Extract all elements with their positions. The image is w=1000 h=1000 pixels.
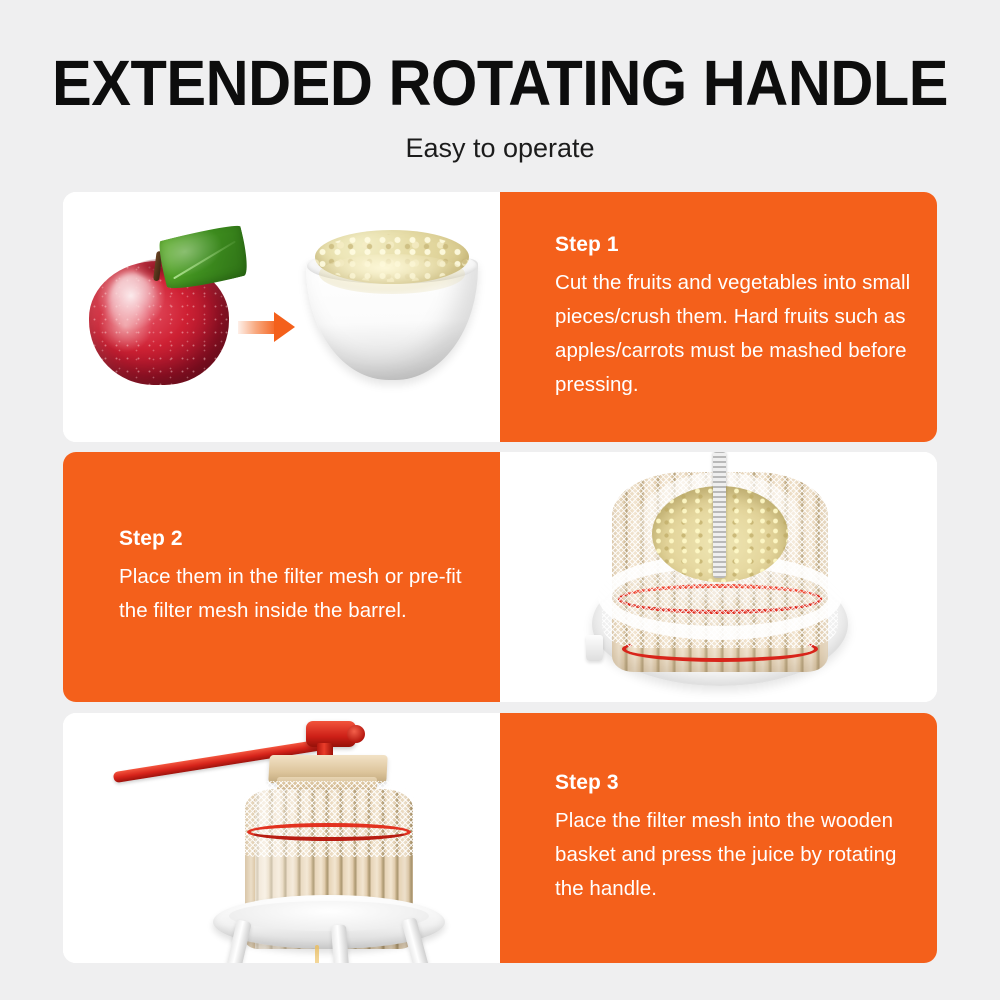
step-card-3: Step 3 Place the filter mesh into the wo… — [63, 713, 937, 963]
header: EXTENDED ROTATING HANDLE Easy to operate — [0, 0, 1000, 164]
step-card-2: Step 2 Place them in the filter mesh or … — [63, 452, 937, 702]
step-2-image — [500, 452, 937, 702]
full-fruit-press-illustration — [63, 713, 500, 963]
wooden-basket — [612, 458, 828, 672]
step-3-text-panel: Step 3 Place the filter mesh into the wo… — [500, 713, 937, 963]
step-card-1: Step 1 Cut the fruits and vegetables int… — [63, 192, 937, 442]
step-1-text-panel: Step 1 Cut the fruits and vegetables int… — [500, 192, 937, 442]
infographic-page: EXTENDED ROTATING HANDLE Easy to operate — [0, 0, 1000, 1000]
step-3-image — [63, 713, 500, 963]
step-3-text-inner: Step 3 Place the filter mesh into the wo… — [555, 770, 915, 906]
press-red-band-upper — [247, 823, 411, 841]
pulp-bowl-icon — [306, 230, 478, 390]
page-subtitle: Easy to operate — [0, 118, 1000, 164]
juice-spout-icon — [586, 635, 603, 661]
pulp-highlight — [319, 254, 465, 294]
step-1-body: Cut the fruits and vegetables into small… — [555, 266, 915, 402]
step-3-body: Place the filter mesh into the wooden ba… — [555, 804, 915, 906]
step-1-label: Step 1 — [555, 232, 915, 258]
apple-icon — [89, 247, 229, 385]
step-2-body: Place them in the filter mesh or pre-fit… — [119, 560, 478, 628]
threaded-screw-shaft — [713, 452, 726, 578]
arrow-head — [274, 312, 295, 342]
apple-leaf-icon — [156, 221, 253, 294]
juice-drip — [315, 945, 319, 963]
arrow-right-icon — [238, 312, 294, 342]
step-3-label: Step 3 — [555, 770, 915, 796]
step-2-label: Step 2 — [119, 526, 478, 552]
step-2-text-inner: Step 2 Place them in the filter mesh or … — [119, 526, 478, 628]
step-2-text-panel: Step 2 Place them in the filter mesh or … — [63, 452, 500, 702]
page-title: EXTENDED ROTATING HANDLE — [35, 0, 965, 118]
apple-to-pulp-illustration — [63, 192, 500, 442]
step-1-text-inner: Step 1 Cut the fruits and vegetables int… — [555, 232, 915, 402]
step-1-image — [63, 192, 500, 442]
arrow-shaft — [238, 321, 278, 334]
barrel-with-mesh-illustration — [500, 452, 937, 702]
press-filter-mesh — [241, 781, 417, 857]
